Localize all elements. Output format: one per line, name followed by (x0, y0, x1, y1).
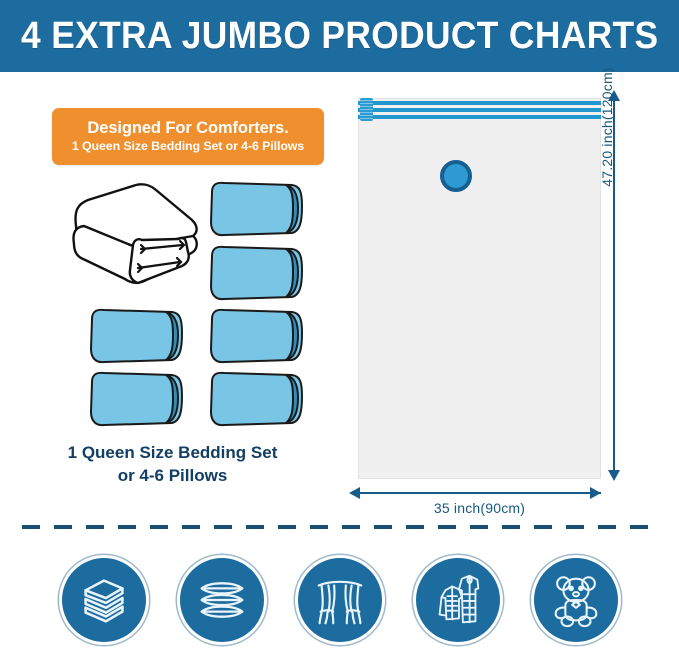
width-dimension-label: 35 inch(90cm) (358, 500, 601, 516)
dimension-arrow-down-icon (608, 470, 620, 481)
height-dimension-label: 47.20 inch(120cm) (599, 42, 615, 212)
folded-linens-icon (73, 569, 135, 631)
page-title: 4 EXTRA JUMBO PRODUCT CHARTS (21, 15, 658, 58)
pillow-icon (86, 370, 186, 428)
teddy-bear-icon (545, 569, 607, 631)
use-case-folded-linens (59, 555, 149, 645)
pillow-icon (206, 370, 306, 428)
use-case-curtains (295, 555, 385, 645)
capacity-caption-line1: 1 Queen Size Bedding Set (0, 442, 345, 465)
zipper-stripe (358, 115, 601, 119)
pillow-icon (206, 180, 306, 238)
bag-body (358, 98, 601, 479)
stacked-pillows-icon (191, 569, 253, 631)
pillow-icon (206, 307, 306, 365)
capacity-panel: Designed For Comforters. 1 Queen Size Be… (0, 72, 345, 512)
badge-title: Designed For Comforters. (87, 120, 288, 137)
badge-subtitle: 1 Queen Size Bedding Set or 4-6 Pillows (72, 140, 304, 153)
pillow-icon (86, 307, 186, 365)
air-valve-icon (440, 160, 472, 192)
use-case-soft-toys (531, 555, 621, 645)
curtains-icon (309, 569, 371, 631)
use-case-pillows (177, 555, 267, 645)
zipper-seal (358, 98, 601, 120)
capacity-caption: 1 Queen Size Bedding Set or 4-6 Pillows (0, 442, 345, 488)
width-dimension-line (358, 492, 601, 494)
use-case-icon-row (0, 548, 679, 652)
use-case-clothing (413, 555, 503, 645)
bedding-set-illustration (62, 182, 204, 300)
dimension-arrow-right-icon (590, 487, 601, 499)
zipper-slider-icon (360, 98, 373, 121)
capacity-items (0, 172, 345, 422)
capacity-caption-line2: or 4-6 Pillows (0, 465, 345, 488)
vacuum-bag-diagram: 47.20 inch(120cm) 35 inch(90cm) (345, 72, 679, 512)
pillow-icon (206, 244, 306, 302)
header-banner: 4 EXTRA JUMBO PRODUCT CHARTS (0, 0, 679, 72)
jackets-icon (427, 569, 489, 631)
zipper-stripe (358, 108, 601, 112)
zipper-stripe (358, 101, 601, 105)
product-chart-infographic: 4 EXTRA JUMBO PRODUCT CHARTS Designed Fo… (0, 0, 679, 652)
designed-for-badge: Designed For Comforters. 1 Queen Size Be… (52, 108, 324, 165)
section-divider (22, 525, 657, 529)
